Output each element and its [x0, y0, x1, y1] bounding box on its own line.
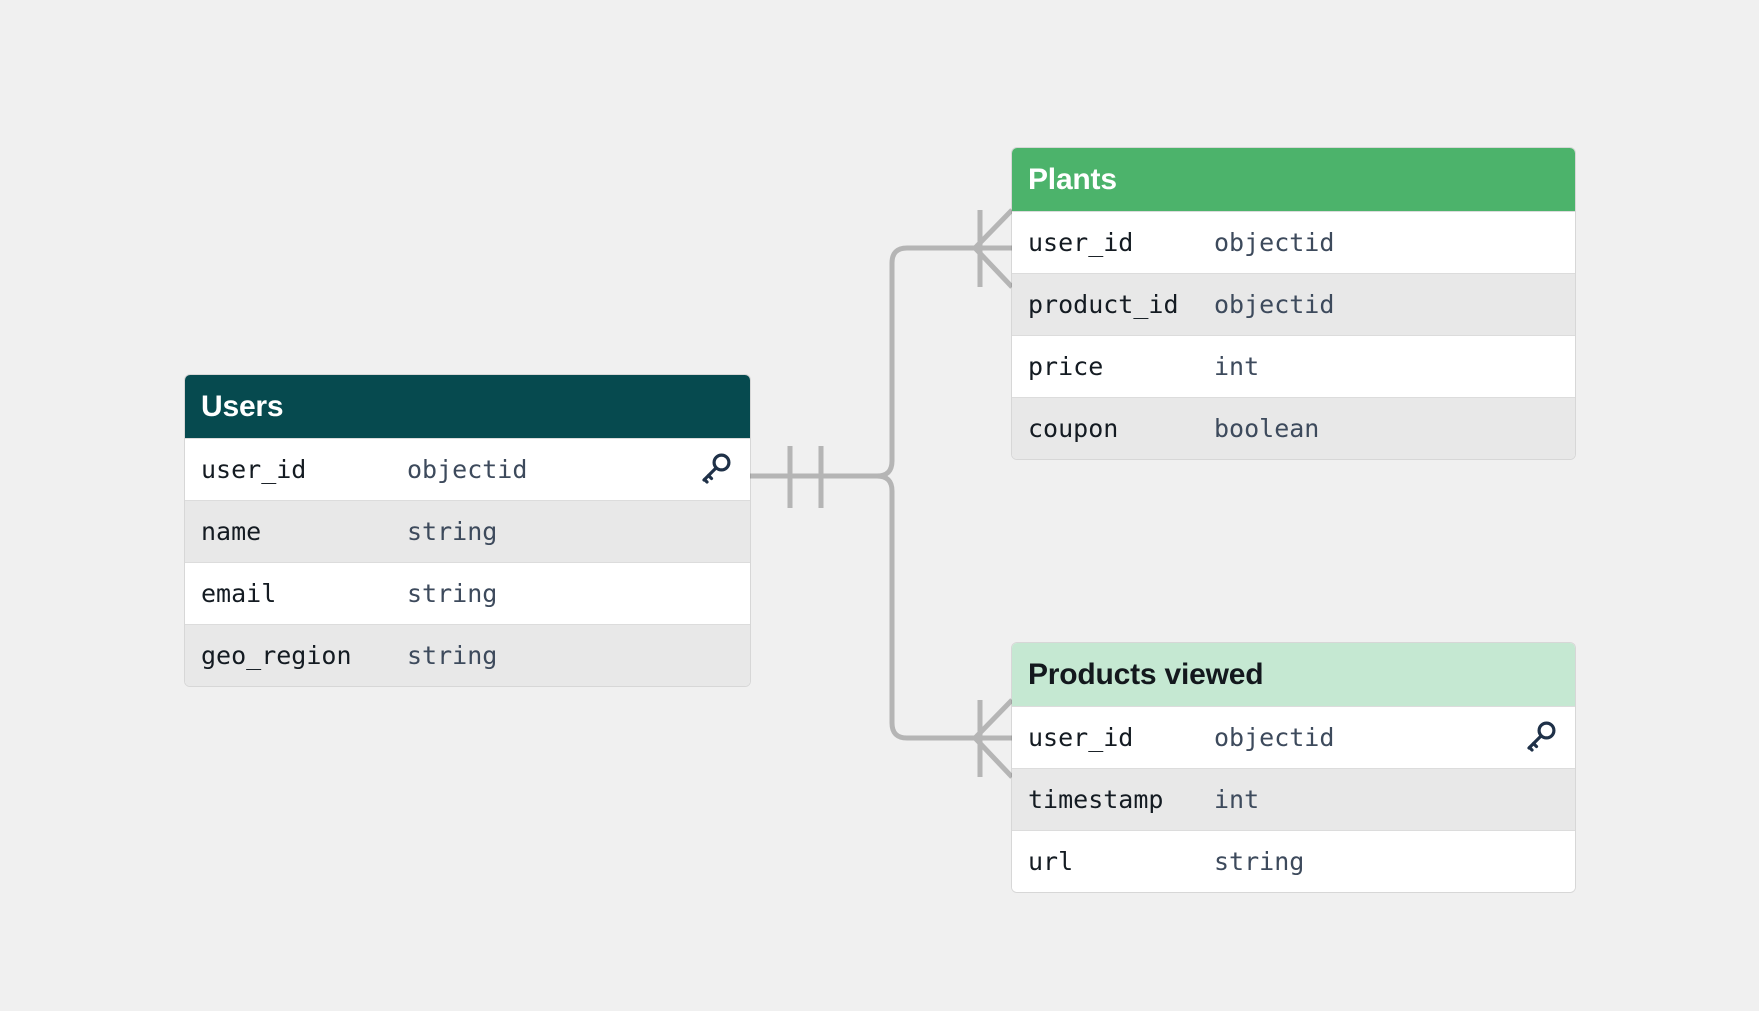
field-name: coupon — [1028, 414, 1214, 443]
field-type: objectid — [1214, 290, 1334, 319]
field-type: objectid — [1214, 723, 1334, 752]
connector-users-plants — [877, 248, 980, 476]
entity-users-title: Users — [185, 375, 750, 438]
field-name: user_id — [201, 455, 407, 484]
field-row-plants-price[interactable]: price int — [1012, 335, 1575, 397]
field-type: int — [1214, 785, 1259, 814]
field-name: timestamp — [1028, 785, 1214, 814]
field-name: product_id — [1028, 290, 1214, 319]
field-row-plants-coupon[interactable]: coupon boolean — [1012, 397, 1575, 459]
field-row-plants-product-id[interactable]: product_id objectid — [1012, 273, 1575, 335]
field-type: boolean — [1214, 414, 1319, 443]
connector-users-products-viewed — [877, 476, 980, 738]
field-name: name — [201, 517, 407, 546]
key-icon — [1519, 718, 1559, 758]
cardinality-many-plants — [975, 210, 1012, 287]
cardinality-one-users — [790, 446, 821, 508]
field-name: user_id — [1028, 228, 1214, 257]
entity-plants-title: Plants — [1012, 148, 1575, 211]
field-row-users-email[interactable]: email string — [185, 562, 750, 624]
entity-products-viewed-title: Products viewed — [1012, 643, 1575, 706]
field-type: string — [407, 641, 497, 670]
field-row-users-name[interactable]: name string — [185, 500, 750, 562]
field-row-users-geo-region[interactable]: geo_region string — [185, 624, 750, 686]
field-row-products-viewed-user-id[interactable]: user_id objectid — [1012, 706, 1575, 768]
field-name: price — [1028, 352, 1214, 381]
entity-plants[interactable]: Plants user_id objectid product_id objec… — [1012, 148, 1575, 459]
field-name: user_id — [1028, 723, 1214, 752]
field-name: url — [1028, 847, 1214, 876]
field-row-products-viewed-url[interactable]: url string — [1012, 830, 1575, 892]
field-type: objectid — [1214, 228, 1334, 257]
field-name: geo_region — [201, 641, 407, 670]
diagram-canvas: Users user_id objectid name string — [0, 0, 1759, 1011]
field-row-users-user-id[interactable]: user_id objectid — [185, 438, 750, 500]
field-type: string — [407, 517, 497, 546]
field-row-plants-user-id[interactable]: user_id objectid — [1012, 211, 1575, 273]
entity-products-viewed[interactable]: Products viewed user_id objectid timesta… — [1012, 643, 1575, 892]
field-type: int — [1214, 352, 1259, 381]
field-type: objectid — [407, 455, 527, 484]
cardinality-many-products-viewed — [975, 700, 1012, 777]
field-row-products-viewed-timestamp[interactable]: timestamp int — [1012, 768, 1575, 830]
key-icon — [694, 450, 734, 490]
field-name: email — [201, 579, 407, 608]
field-type: string — [1214, 847, 1304, 876]
entity-users[interactable]: Users user_id objectid name string — [185, 375, 750, 686]
field-type: string — [407, 579, 497, 608]
